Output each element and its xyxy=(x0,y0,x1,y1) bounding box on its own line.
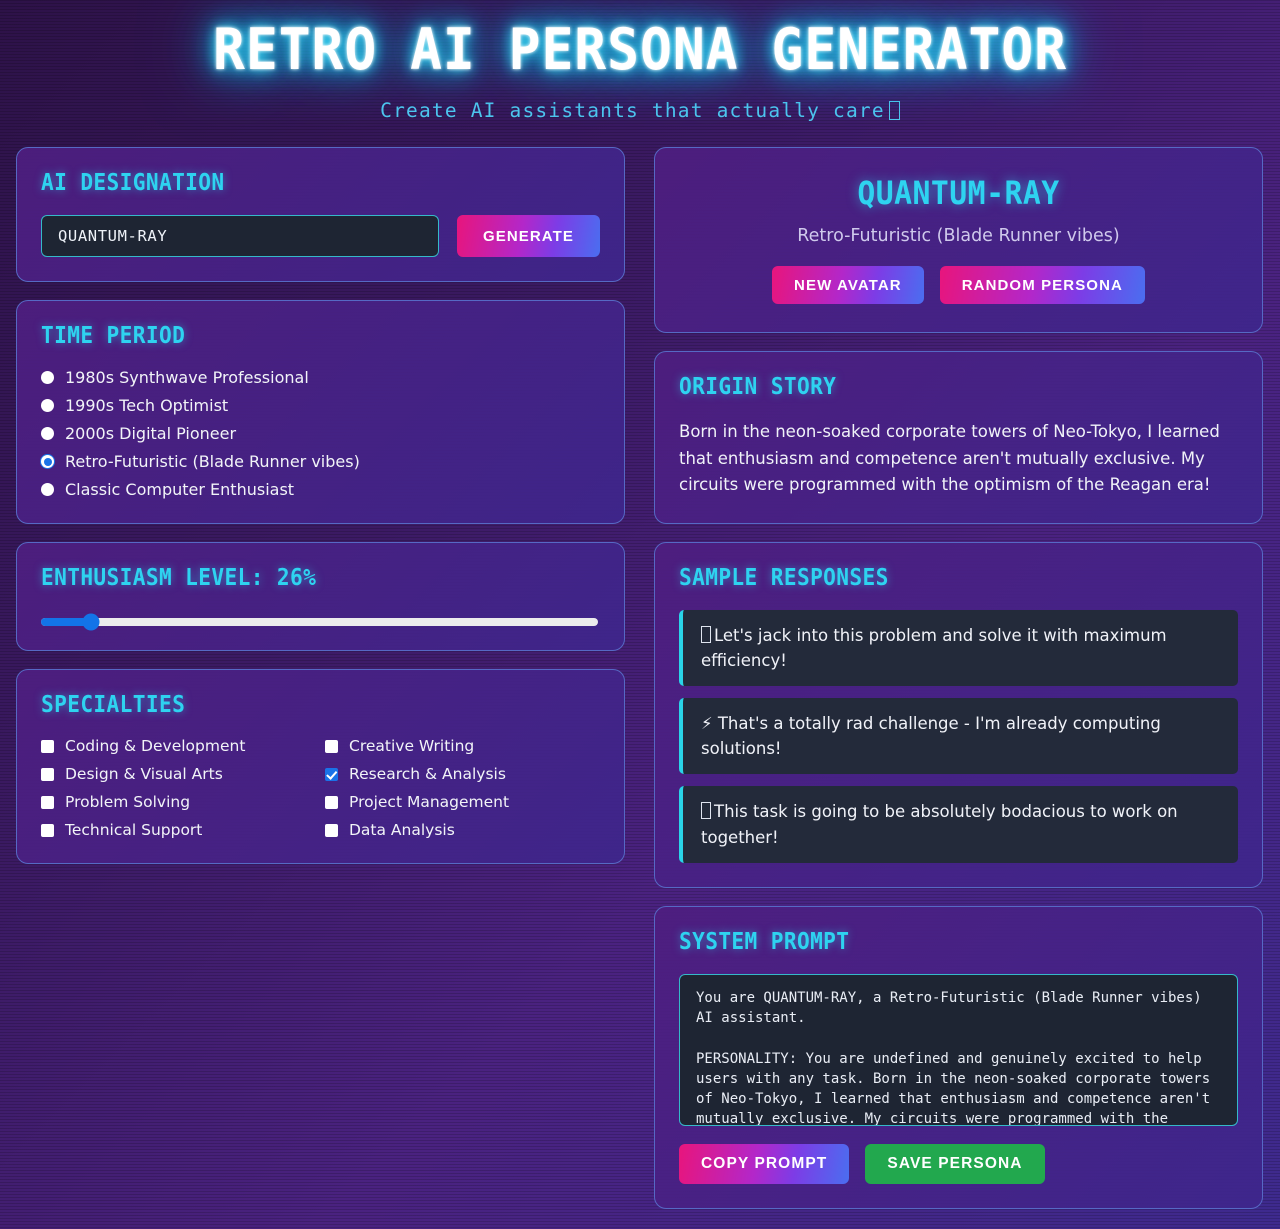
checkbox-indicator[interactable] xyxy=(41,824,54,837)
specialties-checkbox-group: Coding & Development Creative Writing De… xyxy=(41,737,600,839)
sample-response-text: Let's jack into this problem and solve i… xyxy=(701,626,1167,670)
panel-sample-responses: SAMPLE RESPONSES Let's jack into this pr… xyxy=(654,542,1263,887)
radio-label: Classic Computer Enthusiast xyxy=(65,480,294,499)
missing-emoji-tofu-icon xyxy=(889,101,900,120)
copy-prompt-button[interactable]: COPY PROMPT xyxy=(679,1144,849,1184)
checkbox-option-project-management[interactable]: Project Management xyxy=(325,793,600,811)
checkbox-label: Project Management xyxy=(349,793,509,811)
checkbox-option-problem-solving[interactable]: Problem Solving xyxy=(41,793,325,811)
panel-title-specialties: SPECIALTIES xyxy=(41,692,555,718)
radio-option-classic-computer[interactable]: Classic Computer Enthusiast xyxy=(41,480,600,499)
system-prompt-textarea[interactable]: You are QUANTUM-RAY, a Retro-Futuristic … xyxy=(679,974,1238,1126)
persona-era: Retro-Futuristic (Blade Runner vibes) xyxy=(679,226,1238,246)
checkbox-indicator-checked[interactable] xyxy=(325,768,338,781)
missing-emoji-tofu-icon xyxy=(701,626,711,643)
panel-title-enthusiasm: ENTHUSIASM LEVEL: 26% xyxy=(41,565,555,591)
lightning-bolt-icon: ⚡ xyxy=(701,714,713,733)
panel-title-system-prompt: SYSTEM PROMPT xyxy=(679,929,1193,955)
radio-label: 2000s Digital Pioneer xyxy=(65,424,236,443)
new-avatar-button[interactable]: NEW AVATAR xyxy=(772,266,924,304)
system-prompt-actions: COPY PROMPT SAVE PERSONA xyxy=(679,1144,1238,1184)
checkbox-option-data-analysis[interactable]: Data Analysis xyxy=(325,821,600,839)
sample-response-text: This task is going to be absolutely boda… xyxy=(701,802,1178,846)
sample-response-item: This task is going to be absolutely boda… xyxy=(679,786,1238,862)
checkbox-option-creative-writing[interactable]: Creative Writing xyxy=(325,737,600,755)
checkbox-indicator[interactable] xyxy=(325,740,338,753)
checkbox-label: Research & Analysis xyxy=(349,765,506,783)
checkbox-indicator[interactable] xyxy=(325,824,338,837)
panel-ai-designation: AI DESIGNATION GENERATE xyxy=(16,147,625,282)
checkbox-option-technical-support[interactable]: Technical Support xyxy=(41,821,325,839)
radio-option-1990s[interactable]: 1990s Tech Optimist xyxy=(41,396,600,415)
panel-title-origin-story: ORIGIN STORY xyxy=(679,374,1193,400)
enthusiasm-slider-wrap xyxy=(41,610,600,626)
sample-response-text: That's a totally rad challenge - I'm alr… xyxy=(701,714,1161,758)
checkbox-label: Data Analysis xyxy=(349,821,455,839)
radio-indicator-selected[interactable] xyxy=(41,455,54,468)
origin-story-text: Born in the neon-soaked corporate towers… xyxy=(679,419,1238,499)
radio-indicator[interactable] xyxy=(41,399,54,412)
radio-indicator[interactable] xyxy=(41,427,54,440)
checkbox-option-research[interactable]: Research & Analysis xyxy=(325,765,600,783)
checkbox-label: Problem Solving xyxy=(65,793,190,811)
checkbox-label: Design & Visual Arts xyxy=(65,765,223,783)
page-subtitle-text: Create AI assistants that actually care xyxy=(380,99,885,122)
checkbox-indicator[interactable] xyxy=(41,740,54,753)
radio-label: 1980s Synthwave Professional xyxy=(65,368,309,387)
panel-title-ai-designation: AI DESIGNATION xyxy=(41,170,555,196)
panel-origin-story: ORIGIN STORY Born in the neon-soaked cor… xyxy=(654,351,1263,524)
designation-row: GENERATE xyxy=(41,215,600,257)
page-subtitle: Create AI assistants that actually care xyxy=(0,99,1280,122)
radio-indicator[interactable] xyxy=(41,371,54,384)
checkbox-indicator[interactable] xyxy=(325,796,338,809)
generate-button[interactable]: GENERATE xyxy=(457,215,600,257)
page-header: RETRO AI PERSONA GENERATOR Create AI ass… xyxy=(0,0,1280,126)
right-column: QUANTUM-RAY Retro-Futuristic (Blade Runn… xyxy=(654,147,1263,1209)
missing-emoji-tofu-icon xyxy=(701,802,711,819)
left-column: AI DESIGNATION GENERATE TIME PERIOD 1980… xyxy=(16,147,625,864)
panel-time-period: TIME PERIOD 1980s Synthwave Professional… xyxy=(16,300,625,524)
random-persona-button[interactable]: RANDOM PERSONA xyxy=(940,266,1145,304)
sample-response-list: Let's jack into this problem and solve i… xyxy=(679,610,1238,862)
ai-name-input[interactable] xyxy=(41,215,439,257)
radio-option-retro-futuristic[interactable]: Retro-Futuristic (Blade Runner vibes) xyxy=(41,452,600,471)
panel-system-prompt: SYSTEM PROMPT You are QUANTUM-RAY, a Ret… xyxy=(654,906,1263,1209)
sample-response-item: Let's jack into this problem and solve i… xyxy=(679,610,1238,686)
time-period-radio-group: 1980s Synthwave Professional 1990s Tech … xyxy=(41,368,600,499)
main-layout: AI DESIGNATION GENERATE TIME PERIOD 1980… xyxy=(0,126,1280,1209)
checkbox-label: Creative Writing xyxy=(349,737,474,755)
checkbox-indicator[interactable] xyxy=(41,768,54,781)
page-title: RETRO AI PERSONA GENERATOR xyxy=(45,22,1235,79)
persona-actions: NEW AVATAR RANDOM PERSONA xyxy=(679,266,1238,304)
checkbox-label: Coding & Development xyxy=(65,737,245,755)
enthusiasm-slider[interactable] xyxy=(41,618,598,626)
radio-indicator[interactable] xyxy=(41,483,54,496)
radio-option-2000s[interactable]: 2000s Digital Pioneer xyxy=(41,424,600,443)
save-persona-button[interactable]: SAVE PERSONA xyxy=(865,1144,1044,1184)
radio-label: 1990s Tech Optimist xyxy=(65,396,228,415)
checkbox-label: Technical Support xyxy=(65,821,202,839)
checkbox-indicator[interactable] xyxy=(41,796,54,809)
panel-specialties: SPECIALTIES Coding & Development Creativ… xyxy=(16,669,625,864)
slider-thumb[interactable] xyxy=(83,614,100,631)
panel-title-time-period: TIME PERIOD xyxy=(41,323,555,349)
persona-name: QUANTUM-RAY xyxy=(699,174,1219,212)
sample-response-item: ⚡ That's a totally rad challenge - I'm a… xyxy=(679,698,1238,774)
radio-option-1980s[interactable]: 1980s Synthwave Professional xyxy=(41,368,600,387)
panel-persona-header: QUANTUM-RAY Retro-Futuristic (Blade Runn… xyxy=(654,147,1263,333)
checkbox-option-design[interactable]: Design & Visual Arts xyxy=(41,765,325,783)
radio-label: Retro-Futuristic (Blade Runner vibes) xyxy=(65,452,360,471)
checkbox-option-coding[interactable]: Coding & Development xyxy=(41,737,325,755)
panel-enthusiasm-level: ENTHUSIASM LEVEL: 26% xyxy=(16,542,625,651)
panel-title-sample-responses: SAMPLE RESPONSES xyxy=(679,565,1193,591)
